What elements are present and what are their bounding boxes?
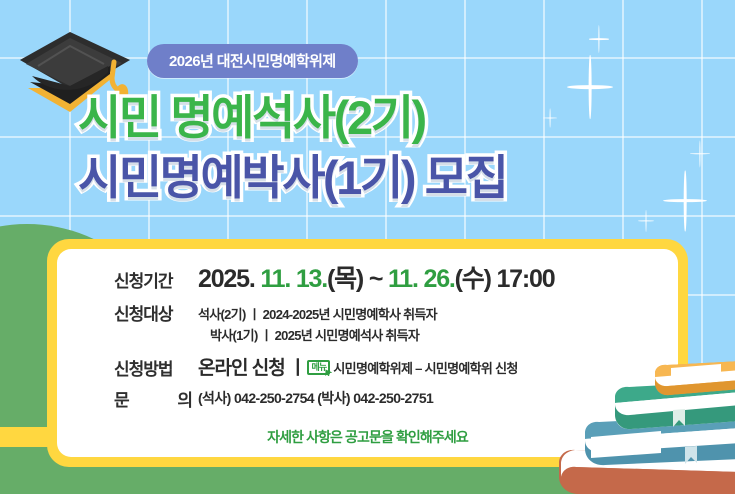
method-main-text: 온라인 신청 ㅣ — [198, 359, 305, 378]
period-start-month: 11. — [260, 265, 290, 293]
period-tilde: ~ — [369, 265, 382, 293]
period-time: 17:00 — [496, 265, 554, 293]
subtitle-badge: 2026년 대전시민명예학위제 — [147, 44, 358, 78]
target-line-doctorate: 박사(1기) ㅣ 2025년 시민명예석사 취득자 — [198, 325, 678, 346]
headline-line-2: 시민명예박사(1기) 모집 — [78, 148, 678, 208]
row-application-target: 신청대상 석사(2기) ㅣ 2024-2025년 시민명예학사 취득자 박사(1… — [57, 304, 678, 346]
method-path-text: 시민명예학위제 – 시민명예학위 신청 — [333, 362, 517, 375]
label-contact-char-1: 문 — [114, 390, 129, 411]
sparkle-icon — [690, 140, 710, 167]
label-contact-char-2: 의 — [177, 390, 192, 411]
headline-line-1: 시민 명예석사(2기) — [78, 88, 678, 148]
row-application-period: 신청기간 2025. 11. 13.(목) ~ 11. 26.(수) 17:00 — [57, 271, 678, 292]
sparkle-icon — [638, 210, 654, 232]
label-application-period: 신청기간 — [114, 271, 198, 292]
menu-badge-icon: 메뉴 — [307, 360, 330, 375]
period-end-dow: (수) — [455, 265, 491, 293]
period-end-month: 11. — [388, 265, 418, 293]
period-start-dow: (목) — [327, 265, 363, 293]
period-end-day: 26. — [424, 265, 455, 293]
value-application-period: 2025. 11. 13.(목) ~ 11. 26.(수) 17:00 — [198, 267, 678, 292]
sparkle-icon — [589, 25, 609, 53]
book-stack-icon — [545, 359, 735, 494]
label-application-target: 신청대상 — [114, 304, 198, 325]
poster-canvas: 2026년 대전시민명예학위제 시민 명예석사(2기) 시민명예박사(1기) 모… — [0, 0, 735, 494]
period-start-day: 13. — [296, 265, 327, 293]
label-contact: 문 의 — [114, 390, 198, 411]
label-application-method: 신청방법 — [114, 359, 198, 380]
period-year: 2025. — [198, 265, 255, 293]
target-line-masters: 석사(2기) ㅣ 2024-2025년 시민명예학사 취득자 — [198, 304, 678, 325]
page-title: 시민 명예석사(2기) 시민명예박사(1기) 모집 — [78, 88, 678, 208]
